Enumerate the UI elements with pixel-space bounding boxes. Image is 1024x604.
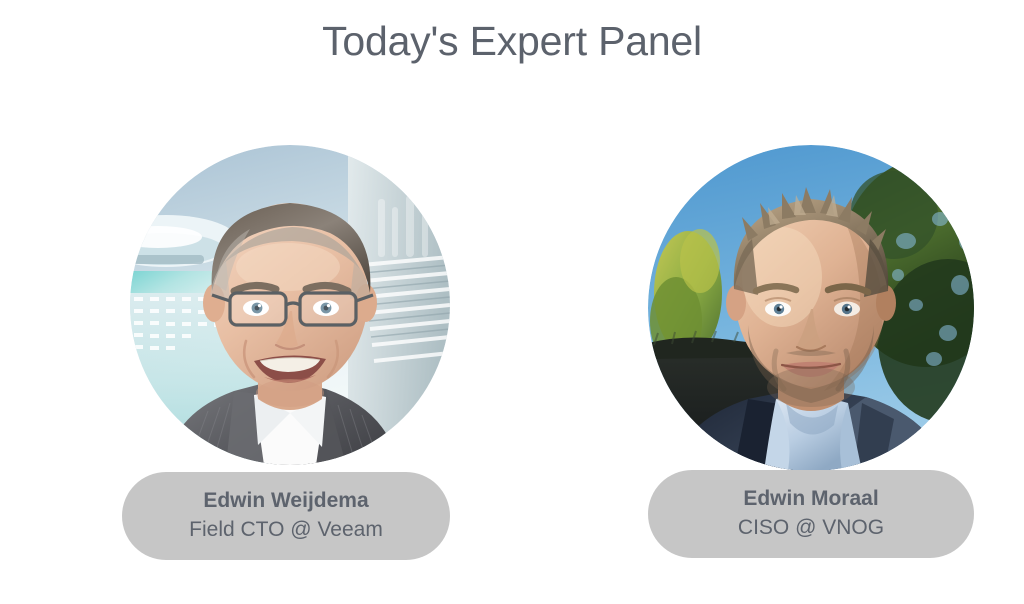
page-title: Today's Expert Panel: [0, 16, 1024, 67]
expert-name-1: Edwin Weijdema: [203, 487, 368, 515]
slide-canvas: Today's Expert Panel: [0, 0, 1024, 604]
expert-role-2: CISO @ VNOG: [738, 513, 884, 542]
avatar-expert-2: [648, 145, 974, 471]
expert-name-2: Edwin Moraal: [743, 485, 878, 513]
avatar-expert-1: [130, 145, 450, 465]
expert-role-1: Field CTO @ Veeam: [189, 515, 383, 544]
expert-panel: Edwin Weijdema Field CTO @ Veeam: [0, 140, 1024, 580]
name-pill-expert-2: Edwin Moraal CISO @ VNOG: [648, 470, 974, 558]
name-pill-expert-1: Edwin Weijdema Field CTO @ Veeam: [122, 472, 450, 560]
